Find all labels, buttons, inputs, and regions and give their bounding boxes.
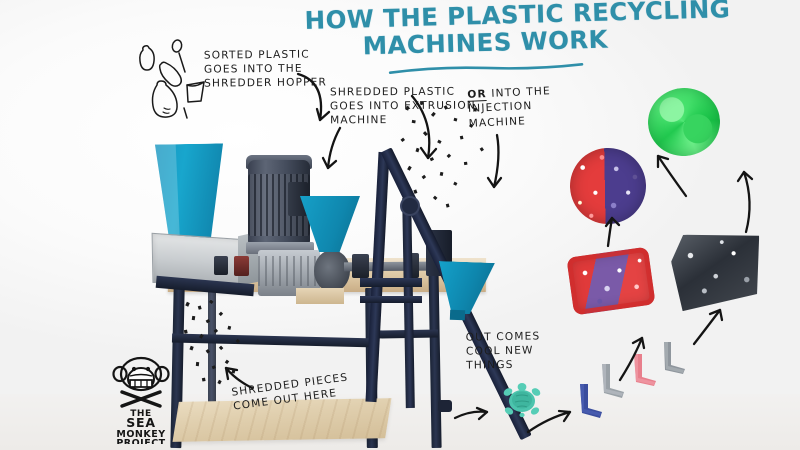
annotation-out-comes: OUT COMES COOL NEW THINGS [466,329,541,373]
sketched-plastic-items [130,38,214,120]
crossed-bones-icon [122,392,160,406]
injection-frame-crossbar-upper [360,278,422,287]
injection-hopper-neck [450,310,465,321]
logo-text: THE SEA MONKEY PROJECT [116,409,165,444]
product-red-tray [566,247,655,316]
injection-frame-crossbar-lower [360,296,422,303]
extruder-coupling-left [352,254,369,278]
shredder-coupling-red [234,256,249,276]
annotation-or-injection: OR INTO THE INJECTION MACHINE [467,84,552,131]
product-handle-gray-2 [658,340,690,376]
page-title: HOW THE PLASTIC RECYCLING MACHINES WORK [304,0,665,62]
injection-arm-foot [438,400,452,412]
red-tray-speckles [566,247,655,316]
monkey-face-icon [114,358,169,390]
injection-arm-pivot [400,196,420,216]
product-handle-pink [628,352,662,388]
infographic-canvas: HOW THE PLASTIC RECYCLING MACHINES WORK … [0,0,800,450]
annotation-sorted-plastic: SORTED PLASTIC GOES INTO THE SHREDDER HO… [204,47,327,91]
product-handle-gray-1 [596,362,630,400]
gearbox-fins [258,256,320,286]
product-turtle-figurine [500,382,544,420]
or-emphasis: OR [467,88,487,102]
annotation-shredded-plastic: SHREDDED PLASTIC GOES INTO EXTRUSION MAC… [330,85,476,128]
logo-line-sea: SEA [126,415,156,430]
wood-support-blocks [296,288,344,304]
shredder-coupling [214,256,228,275]
logo-line-project: PROJECT [116,438,165,444]
sea-monkey-project-logo[interactable]: THE SEA MONKEY PROJECT [100,352,182,444]
